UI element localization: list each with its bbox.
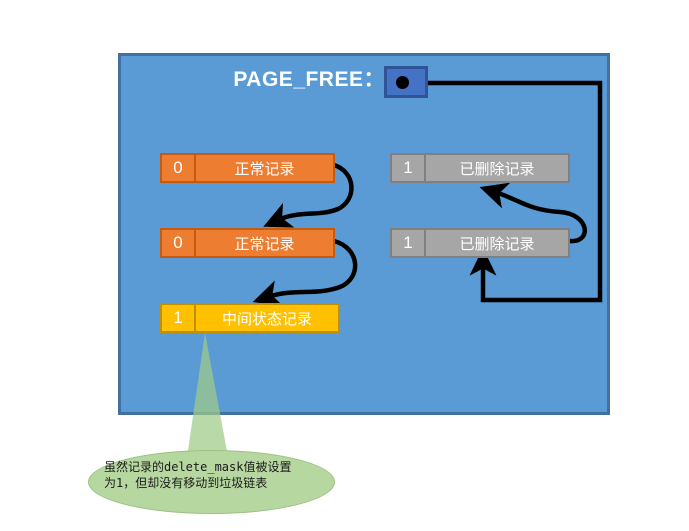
record-label: 中间状态记录 xyxy=(196,305,338,331)
record-row[interactable]: 1 已删除记录 xyxy=(390,228,570,258)
record-delete-mask: 0 xyxy=(162,230,196,256)
record-row[interactable]: 0 正常记录 xyxy=(160,153,335,183)
record-delete-mask: 1 xyxy=(392,155,426,181)
diagram-canvas: PAGE_FREE： 0 正常记录 0 正常记录 1 中间状态记录 1 已删除记… xyxy=(0,0,689,531)
annotation-callout-text: 虽然记录的delete_mask值被设置 为1，但却没有移动到垃圾链表 xyxy=(96,459,326,491)
record-row[interactable]: 1 已删除记录 xyxy=(390,153,570,183)
record-delete-mask: 1 xyxy=(162,305,196,331)
record-delete-mask: 1 xyxy=(392,230,426,256)
record-label: 已删除记录 xyxy=(426,155,568,181)
record-label: 正常记录 xyxy=(196,155,333,181)
annotation-line-1: 虽然记录的delete_mask值被设置 xyxy=(104,459,326,475)
connector-pagefree-to-deleted2 xyxy=(407,83,600,300)
pointer-dot-icon xyxy=(396,76,409,89)
annotation-line-2: 为1，但却没有移动到垃圾链表 xyxy=(104,475,326,491)
page-title: PAGE_FREE： xyxy=(225,67,385,93)
record-label: 正常记录 xyxy=(196,230,333,256)
record-row[interactable]: 1 中间状态记录 xyxy=(160,303,340,333)
record-label: 已删除记录 xyxy=(426,230,568,256)
record-delete-mask: 0 xyxy=(162,155,196,181)
record-row[interactable]: 0 正常记录 xyxy=(160,228,335,258)
